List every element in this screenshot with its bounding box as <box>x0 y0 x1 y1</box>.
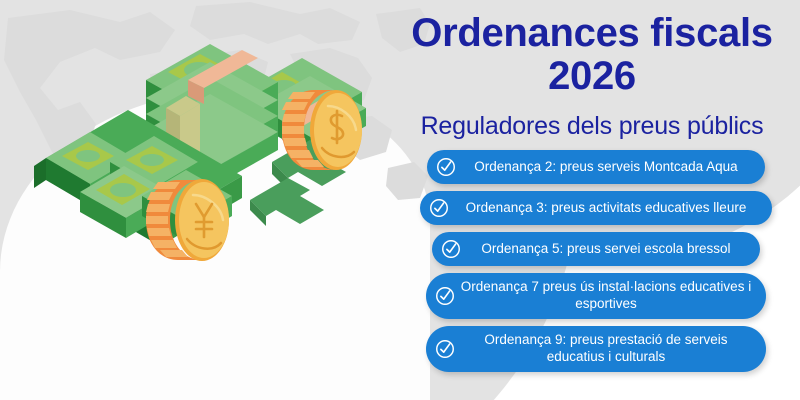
coin-yen <box>146 179 229 261</box>
list-item-label: Ordenança 5: preus servei escola bressol <box>466 241 750 258</box>
title-line-2: 2026 <box>392 55 792 98</box>
list-item-label: Ordenança 3: preus activitats educatives… <box>454 200 762 217</box>
list-item-label: Ordenança 7 preus ús instal·lacions educ… <box>460 279 756 313</box>
list-item-label: Ordenança 9: preus prestació de serveis … <box>460 332 756 366</box>
check-circle-icon <box>440 238 462 260</box>
check-circle-icon <box>435 156 457 178</box>
content-column: Ordenances fiscals 2026 Reguladores dels… <box>392 0 800 400</box>
page-subtitle: Reguladores dels preus públics <box>392 112 792 141</box>
isometric-money-illustration <box>10 10 410 300</box>
title-line-1: Ordenances fiscals <box>392 12 792 55</box>
list-item[interactable]: Ordenança 9: preus prestació de serveis … <box>426 326 766 372</box>
check-circle-icon <box>428 197 450 219</box>
list-item[interactable]: Ordenança 5: preus servei escola bressol <box>432 232 760 266</box>
ordinance-list: Ordenança 2: preus serveis Montcada Aqua… <box>392 150 800 379</box>
list-item-label: Ordenança 2: preus serveis Montcada Aqua <box>461 159 755 176</box>
coin-dollar <box>282 90 362 170</box>
list-item[interactable]: Ordenança 3: preus activitats educatives… <box>420 191 772 225</box>
list-item[interactable]: Ordenança 7 preus ús instal·lacions educ… <box>426 273 766 319</box>
list-item[interactable]: Ordenança 2: preus serveis Montcada Aqua <box>427 150 765 184</box>
page-title: Ordenances fiscals 2026 <box>392 12 792 98</box>
check-circle-icon <box>434 338 456 360</box>
check-circle-icon <box>434 285 456 307</box>
poster-canvas: Ordenances fiscals 2026 Reguladores dels… <box>0 0 800 400</box>
